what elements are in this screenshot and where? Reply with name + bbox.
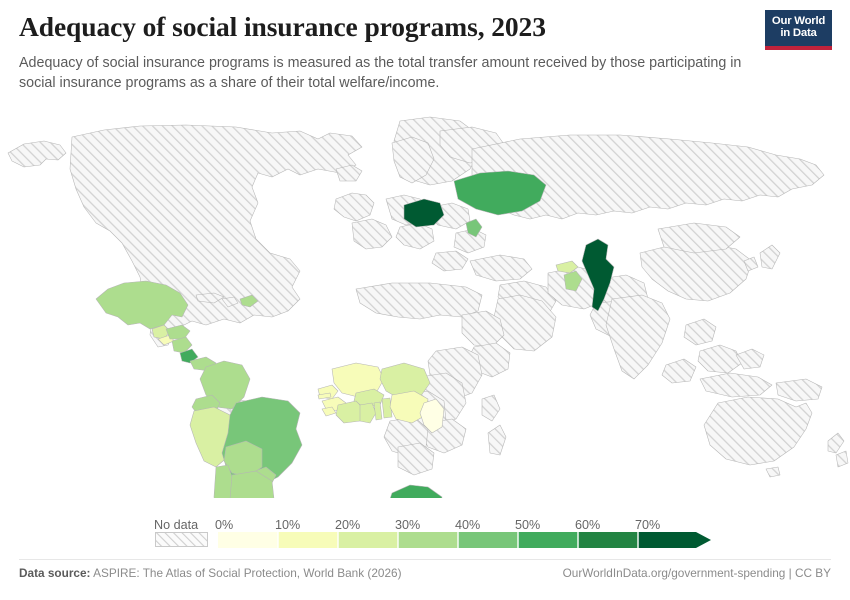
license-link[interactable]: OurWorldInData.org/government-spending |…	[563, 566, 831, 580]
country-togo[interactable]	[374, 402, 382, 420]
owid-logo-line2: in Data	[780, 28, 816, 40]
legend-bin-2[interactable]	[338, 532, 398, 548]
legend-bin-4[interactable]	[458, 532, 518, 548]
legend-tick-5: 50%	[515, 518, 540, 532]
legend-bin-5[interactable]	[518, 532, 578, 548]
legend-bin-3[interactable]	[398, 532, 458, 548]
owid-map-chart: Adequacy of social insurance programs, 2…	[0, 0, 850, 600]
data-source-text: ASPIRE: The Atlas of Social Protection, …	[90, 566, 401, 580]
legend-bin-1[interactable]	[278, 532, 338, 548]
legend-tick-0: 0%	[215, 518, 233, 532]
page-title: Adequacy of social insurance programs, 2…	[19, 12, 850, 43]
data-source: Data source: ASPIRE: The Atlas of Social…	[19, 566, 402, 580]
chart-footer: Data source: ASPIRE: The Atlas of Social…	[0, 566, 850, 588]
chart-header: Adequacy of social insurance programs, 2…	[19, 12, 850, 93]
legend-bin-7-arrow[interactable]	[638, 532, 711, 548]
legend-tick-2: 20%	[335, 518, 360, 532]
legend-tick-1: 10%	[275, 518, 300, 532]
legend-tick-7: 70%	[635, 518, 660, 532]
world-map-svg[interactable]	[0, 103, 850, 498]
legend-tick-3: 30%	[395, 518, 420, 532]
legend-tick-6: 60%	[575, 518, 600, 532]
legend-bin-6[interactable]	[578, 532, 638, 548]
legend-no-data-label: No data	[154, 518, 198, 532]
legend-bin-0[interactable]	[218, 532, 278, 548]
data-source-label: Data source:	[19, 566, 90, 580]
legend-color-bar[interactable]	[218, 532, 713, 548]
legend-tick-4: 40%	[455, 518, 480, 532]
chart-subtitle: Adequacy of social insurance programs is…	[19, 53, 754, 94]
country-south-africa[interactable]	[388, 485, 442, 498]
owid-logo[interactable]: Our World in Data	[765, 10, 832, 50]
footer-divider	[19, 559, 831, 560]
legend-no-data-swatch[interactable]	[155, 532, 208, 547]
world-map[interactable]	[0, 103, 850, 498]
